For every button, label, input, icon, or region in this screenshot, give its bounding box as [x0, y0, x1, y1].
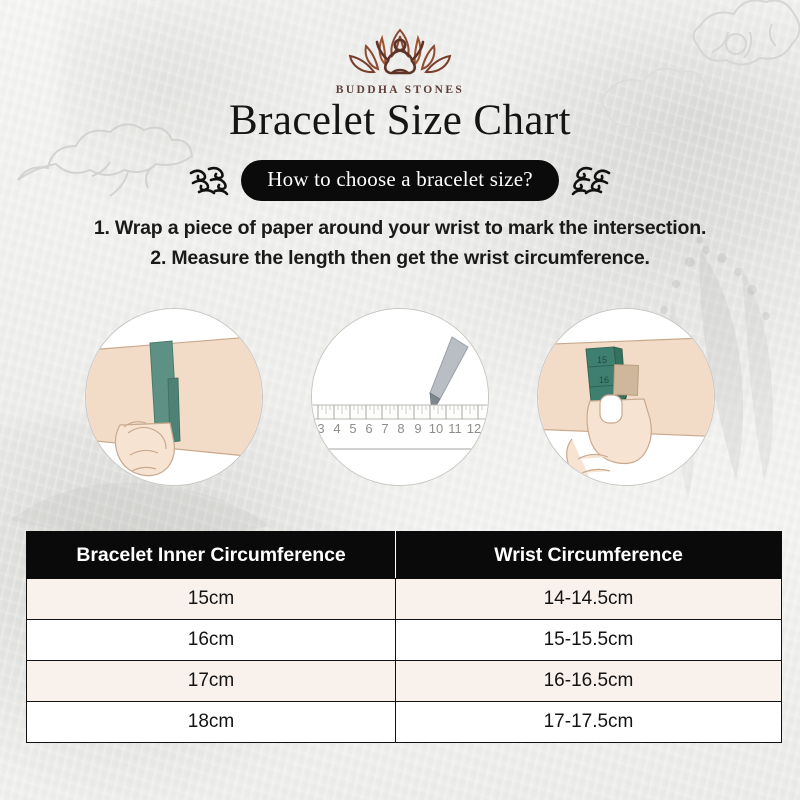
cloud-swirl-ornament-right-icon — [569, 164, 613, 198]
cell-wrist-size: 15-15.5cm — [396, 620, 782, 661]
cell-bracelet-size: 15cm — [27, 579, 396, 620]
cell-bracelet-size: 16cm — [27, 620, 396, 661]
table-row: 16cm 15-15.5cm — [27, 620, 782, 661]
lotus-meditation-icon — [334, 22, 466, 82]
cloud-swirl-ornament-left-icon — [187, 164, 231, 198]
how-to-banner: How to choose a bracelet size? — [241, 160, 558, 201]
cell-wrist-size: 16-16.5cm — [396, 661, 782, 702]
wrist-tape-icon: 15 16 17 2 — [538, 309, 714, 485]
cell-wrist-size: 17-17.5cm — [396, 702, 782, 743]
instruction-line-2: 2. Measure the length then get the wrist… — [0, 244, 800, 274]
size-table-body: 15cm 14-14.5cm 16cm 15-15.5cm 17cm 16-16… — [27, 579, 782, 743]
size-table-header: Bracelet Inner Circumference Wrist Circu… — [27, 532, 782, 579]
size-table: Bracelet Inner Circumference Wrist Circu… — [26, 531, 782, 743]
bracelet-size-chart-page: BUDDHA STONES Bracelet Size Chart How to… — [0, 0, 800, 800]
ruler-pencil-icon: 3 4 5 6 7 8 9 10 11 12 — [312, 309, 488, 485]
cell-bracelet-size: 17cm — [27, 661, 396, 702]
banner-row: How to choose a bracelet size? — [0, 160, 800, 201]
svg-text:10: 10 — [429, 421, 443, 436]
page-title: Bracelet Size Chart — [0, 96, 800, 145]
svg-text:8: 8 — [397, 421, 404, 436]
brand-logo: BUDDHA STONES — [0, 22, 800, 96]
svg-text:6: 6 — [365, 421, 372, 436]
table-row: 15cm 14-14.5cm — [27, 579, 782, 620]
svg-text:5: 5 — [349, 421, 356, 436]
brand-name: BUDDHA STONES — [336, 84, 464, 96]
table-row: 18cm 17-17.5cm — [27, 702, 782, 743]
svg-text:4: 4 — [333, 421, 340, 436]
column-header-bracelet-inner-circumference: Bracelet Inner Circumference — [27, 532, 396, 579]
cell-wrist-size: 14-14.5cm — [396, 579, 782, 620]
illustration-wrist-with-measuring-tape: 15 16 17 2 — [537, 308, 715, 486]
svg-text:7: 7 — [381, 421, 388, 436]
illustration-wrist-with-paper-strip — [85, 308, 263, 486]
cell-bracelet-size: 18cm — [27, 702, 396, 743]
wrist-paper-strip-icon — [86, 309, 262, 485]
svg-text:3: 3 — [317, 421, 324, 436]
svg-text:15: 15 — [597, 355, 607, 365]
svg-text:11: 11 — [448, 421, 462, 436]
illustration-ruler-with-pencil: 3 4 5 6 7 8 9 10 11 12 — [311, 308, 489, 486]
svg-text:12: 12 — [467, 421, 481, 436]
table-header-row: Bracelet Inner Circumference Wrist Circu… — [27, 532, 782, 579]
svg-text:16: 16 — [599, 375, 609, 385]
instructions-list: 1. Wrap a piece of paper around your wri… — [0, 214, 800, 273]
column-header-wrist-circumference: Wrist Circumference — [396, 532, 782, 579]
instruction-line-1: 1. Wrap a piece of paper around your wri… — [0, 214, 800, 244]
svg-text:9: 9 — [414, 421, 421, 436]
illustration-row: 3 4 5 6 7 8 9 10 11 12 — [0, 308, 800, 486]
table-row: 17cm 16-16.5cm — [27, 661, 782, 702]
